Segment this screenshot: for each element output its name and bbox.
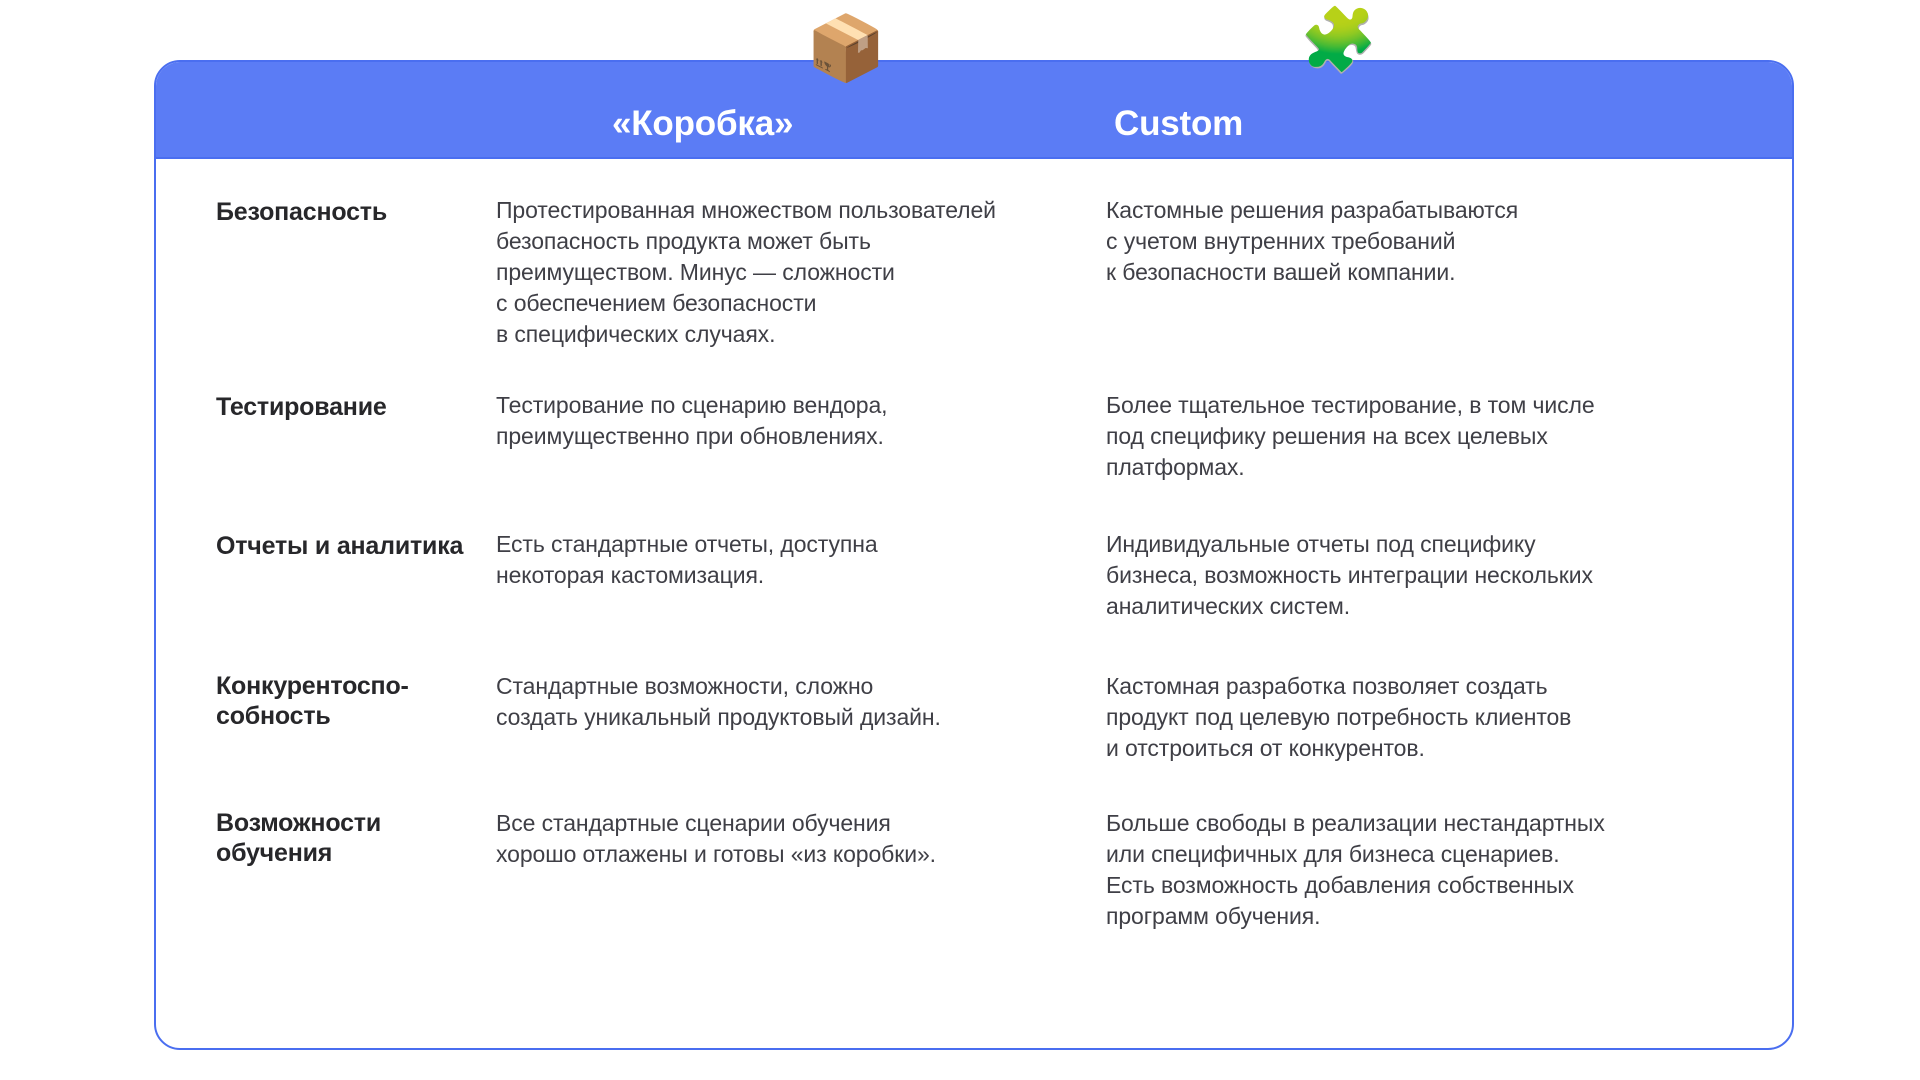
row-box-text: Протестированная множеством пользователе… [496,195,1070,350]
table-header: 📦 «Коробка» 🧩 Custom [156,62,1792,159]
table-body: Безопасность Протестированная множеством… [156,159,1792,932]
package-box-icon: 📦 [806,16,886,80]
row-custom-text: Более тщательное тестирование, в том чис… [1106,390,1742,483]
row-custom-text: Индивидуальные отчеты под специфику бизн… [1106,529,1742,622]
table-row: Возможности обучения Все стандартные сце… [156,808,1792,932]
row-box-cell: Есть стандартные отчеты, доступна некото… [496,529,1106,622]
row-label: Возможности обучения [216,808,480,869]
row-box-text: Все стандартные сценарии обучения хорошо… [496,808,1070,870]
header-column-box: 📦 «Коробка» [496,62,1106,157]
row-label: Отчеты и аналитика [216,529,480,562]
header-column-custom: 🧩 Custom [1106,62,1792,157]
row-label: Безопасность [216,195,480,228]
row-label-cell: Возможности обучения [156,808,496,932]
header-columns: 📦 «Коробка» 🧩 Custom [156,62,1792,157]
row-label-cell: Безопасность [156,195,496,350]
row-box-text: Тестирование по сценарию вендора, преиму… [496,390,1070,452]
row-label-cell: Тестирование [156,390,496,483]
row-custom-text: Кастомные решения разрабатываются с учет… [1106,195,1742,288]
row-box-cell: Тестирование по сценарию вендора, преиму… [496,390,1106,483]
table-row: Конкурентоспо- собность Стандартные возм… [156,671,1792,764]
row-custom-cell: Более тщательное тестирование, в том чис… [1106,390,1792,483]
row-label-cell: Отчеты и аналитика [156,529,496,622]
row-custom-text: Кастомная разработка позволяет создать п… [1106,671,1742,764]
row-label-cell: Конкурентоспо- собность [156,671,496,764]
table-row: Тестирование Тестирование по сценарию ве… [156,390,1792,483]
header-label-column [156,62,496,157]
row-custom-cell: Кастомная разработка позволяет создать п… [1106,671,1792,764]
row-box-text: Стандартные возможности, сложно создать … [496,671,1070,733]
page-root: 📦 «Коробка» 🧩 Custom Безопасность Протес… [0,0,1920,1080]
header-title-box: «Коробка» [612,106,793,143]
row-custom-cell: Больше свободы в реализации нестандартны… [1106,808,1792,932]
row-box-text: Есть стандартные отчеты, доступна некото… [496,529,1070,591]
row-custom-text: Больше свободы в реализации нестандартны… [1106,808,1742,932]
row-box-cell: Протестированная множеством пользователе… [496,195,1106,350]
row-box-cell: Стандартные возможности, сложно создать … [496,671,1106,764]
header-title-custom: Custom [1114,106,1243,143]
row-box-cell: Все стандартные сценарии обучения хорошо… [496,808,1106,932]
puzzle-piece-icon: 🧩 [1300,10,1377,72]
table-row: Безопасность Протестированная множеством… [156,195,1792,350]
table-row: Отчеты и аналитика Есть стандартные отче… [156,529,1792,622]
row-custom-cell: Кастомные решения разрабатываются с учет… [1106,195,1792,350]
row-label: Конкурентоспо- собность [216,671,480,732]
row-label: Тестирование [216,390,480,423]
row-custom-cell: Индивидуальные отчеты под специфику бизн… [1106,529,1792,622]
comparison-card: 📦 «Коробка» 🧩 Custom Безопасность Протес… [154,60,1794,1050]
